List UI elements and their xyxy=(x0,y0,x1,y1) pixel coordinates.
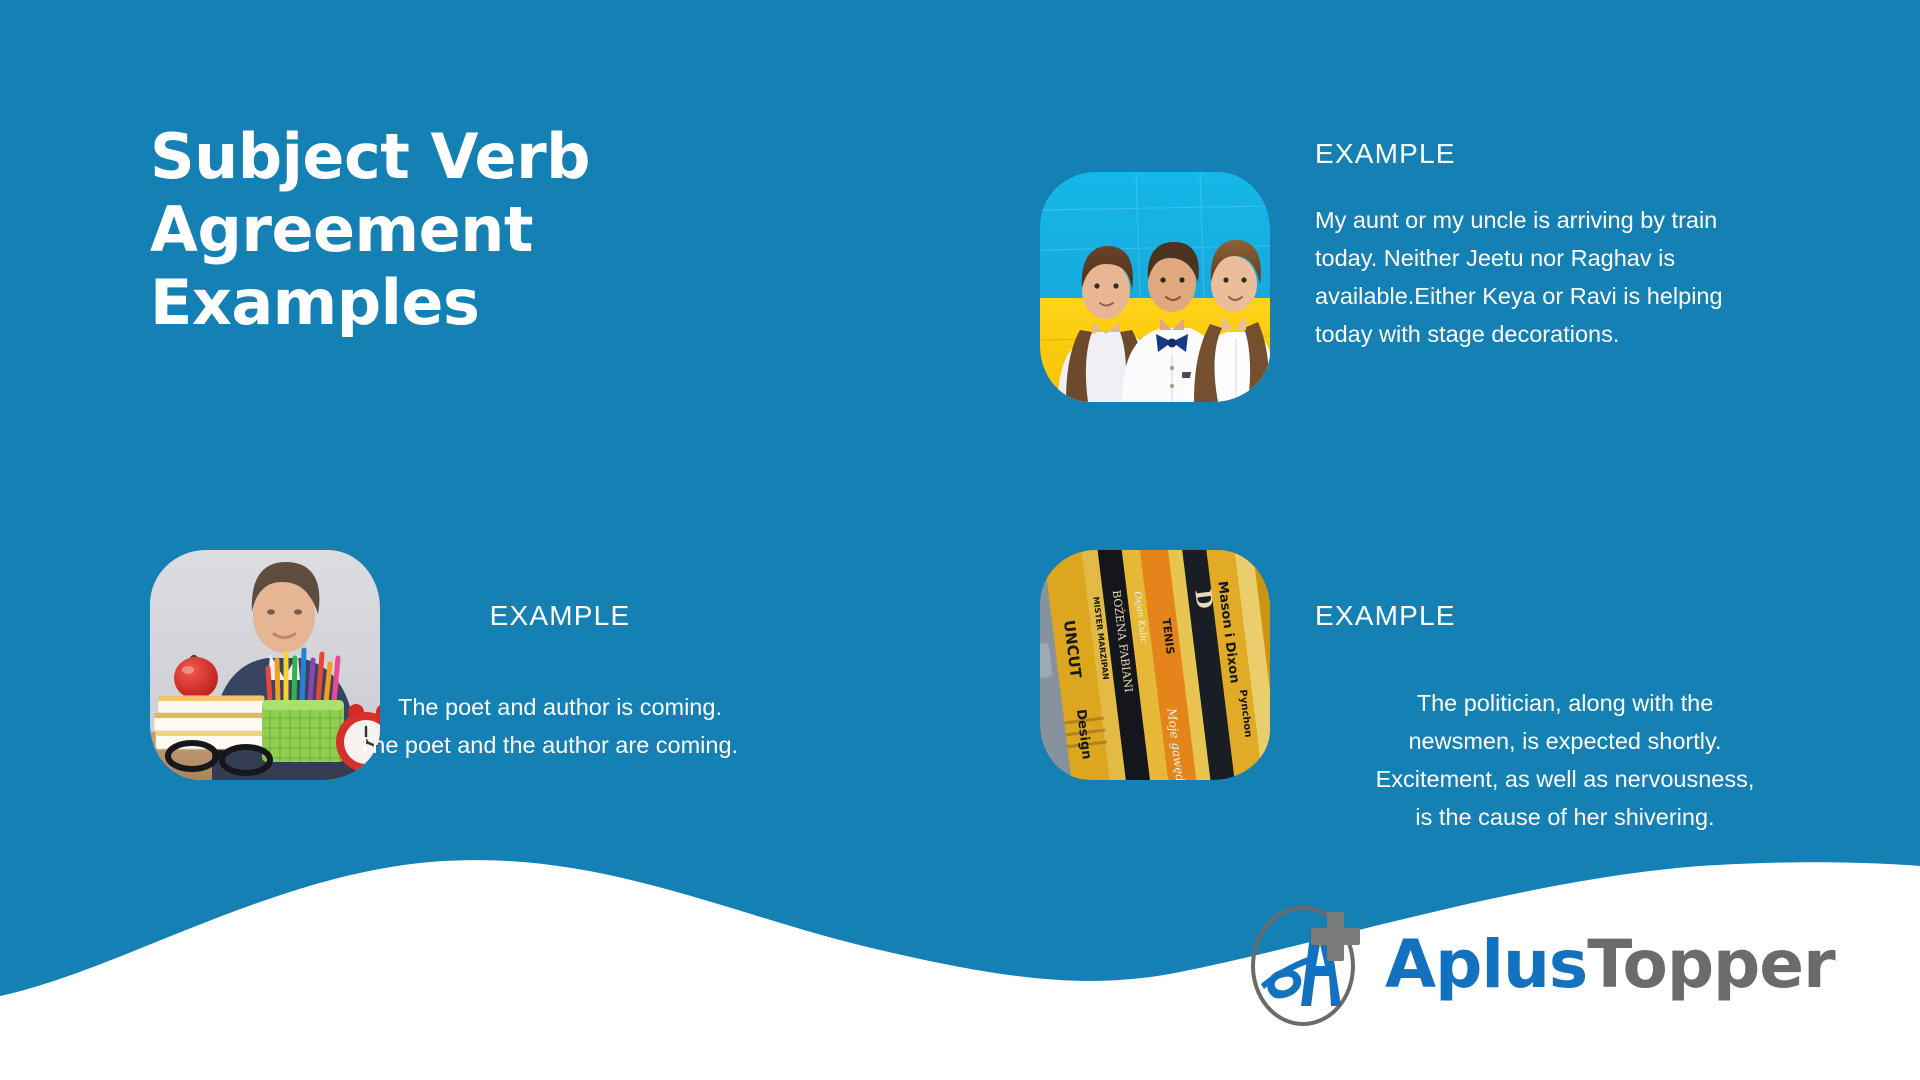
example-body-line: Excitement, as well as nervousness, xyxy=(1315,760,1815,798)
page-title-line-3: Examples xyxy=(150,266,710,339)
book-spines-photo: UNCUT Design MISTER MARZIPAN TENIS Mason… xyxy=(1040,550,1270,780)
students-with-flag-illustration xyxy=(1040,172,1270,402)
slide-canvas: Subject Verb Agreement Examples xyxy=(0,0,1920,1080)
aplustopper-wordmark: AplusTopper xyxy=(1385,926,1835,1003)
example-label: EXAMPLE xyxy=(1315,600,1815,632)
page-title-line-1: Subject Verb xyxy=(150,120,710,193)
book-stack xyxy=(154,696,268,749)
example-label: EXAMPLE xyxy=(310,600,810,632)
page-title: Subject Verb Agreement Examples xyxy=(150,120,710,339)
example-body-line: The poet and author is coming. xyxy=(310,688,810,726)
example-body: My aunt or my uncle is arriving by train… xyxy=(1315,201,1755,353)
example-body: The politician, along with the newsmen, … xyxy=(1315,684,1815,836)
photo-content xyxy=(1040,172,1270,402)
example-text-bottom-left: EXAMPLE The poet and author is coming. T… xyxy=(310,600,810,764)
book-spines-illustration: UNCUT Design MISTER MARZIPAN TENIS Mason… xyxy=(1040,550,1270,780)
aplustopper-logo-mark xyxy=(1245,900,1375,1030)
students-with-flag-photo xyxy=(1040,172,1270,402)
logo-word-topper: Topper xyxy=(1587,926,1834,1003)
example-text-top-right: EXAMPLE My aunt or my uncle is arriving … xyxy=(1315,138,1755,353)
page-title-line-2: Agreement xyxy=(150,193,710,266)
example-body-line: The politician, along with the xyxy=(1315,684,1815,722)
example-body-line: The poet and the author are coming. xyxy=(286,726,810,764)
example-label: EXAMPLE xyxy=(1315,138,1755,170)
logo-word-aplus: Aplus xyxy=(1385,926,1587,1003)
photo-content: UNCUT Design MISTER MARZIPAN TENIS Mason… xyxy=(1040,550,1270,780)
example-body-line: newsmen, is expected shortly. xyxy=(1315,722,1815,760)
example-body: The poet and author is coming. The poet … xyxy=(310,688,810,764)
aplustopper-logo[interactable]: AplusTopper xyxy=(1245,900,1875,1030)
example-text-bottom-right: EXAMPLE The politician, along with the n… xyxy=(1315,600,1815,836)
